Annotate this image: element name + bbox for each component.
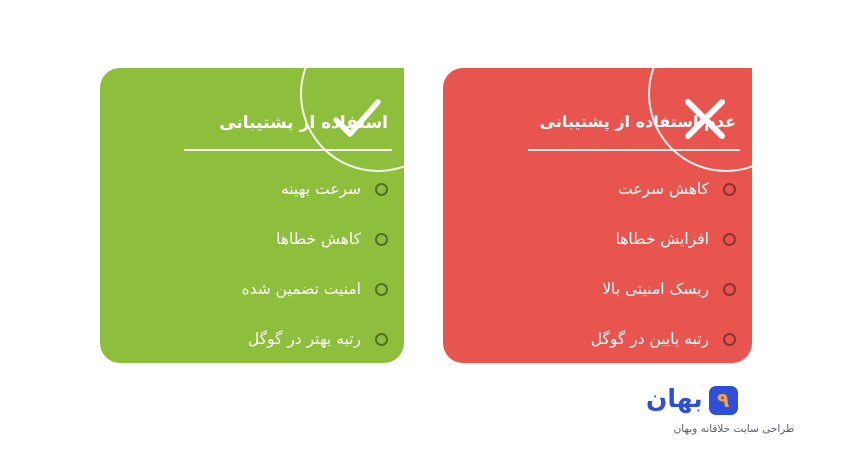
circle-bullet-icon — [375, 283, 388, 296]
circle-bullet-icon — [723, 233, 736, 246]
pro-card-divider — [184, 149, 392, 151]
pro-card-title: استفاده از پشتیبانی — [190, 112, 388, 134]
con-card-divider — [528, 149, 740, 151]
con-card-title: عدم استفاده از پشتیبانی — [513, 112, 736, 133]
circle-bullet-icon — [723, 183, 736, 196]
list-item: ریسک امنیتی بالا — [443, 264, 752, 314]
list-item: افزایش خطاها — [443, 214, 752, 264]
list-item: امنیت تضمین شده — [100, 264, 404, 314]
circle-bullet-icon — [375, 233, 388, 246]
con-drawback-list: کاهش سرعت افزایش خطاها ریسک امنیتی بالا … — [443, 164, 752, 363]
list-item: کاهش خطاها — [100, 214, 404, 264]
circle-bullet-icon — [375, 333, 388, 346]
list-item-label: رتبه پایین در گوگل — [457, 330, 709, 349]
list-item-label: کاهش خطاها — [114, 230, 361, 249]
pro-benefit-list: سرعت بهینه کاهش خطاها امنیت تضمین شده رت… — [100, 164, 404, 363]
brand-mark-icon: ۹ — [709, 386, 738, 415]
con-card: عدم استفاده از پشتیبانی کاهش سرعت افزایش… — [443, 68, 752, 363]
list-item: سرعت بهینه — [100, 164, 404, 214]
brand-tagline: طراحی سایت خلاقانه وبهان — [646, 423, 826, 436]
list-item-label: افزایش خطاها — [457, 230, 709, 249]
list-item: رتبه پایین در گوگل — [443, 314, 752, 363]
brand-wordmark: بهان — [646, 386, 703, 414]
comparison-infographic: استفاده از پشتیبانی سرعت بهینه کاهش خطاه… — [0, 0, 850, 450]
list-item: رتبه بهتر در گوگل — [100, 314, 404, 363]
list-item-label: سرعت بهینه — [114, 180, 361, 199]
circle-bullet-icon — [723, 333, 736, 346]
list-item-label: امنیت تضمین شده — [114, 280, 361, 299]
list-item-label: رتبه بهتر در گوگل — [114, 330, 361, 349]
list-item-label: کاهش سرعت — [457, 180, 709, 199]
brand-lockup: ۹ بهان — [646, 384, 826, 416]
brand-logo: ۹ بهان طراحی سایت خلاقانه وبهان — [646, 384, 826, 436]
list-item: کاهش سرعت — [443, 164, 752, 214]
circle-bullet-icon — [723, 283, 736, 296]
circle-bullet-icon — [375, 183, 388, 196]
pro-card: استفاده از پشتیبانی سرعت بهینه کاهش خطاه… — [100, 68, 404, 363]
list-item-label: ریسک امنیتی بالا — [457, 280, 709, 299]
